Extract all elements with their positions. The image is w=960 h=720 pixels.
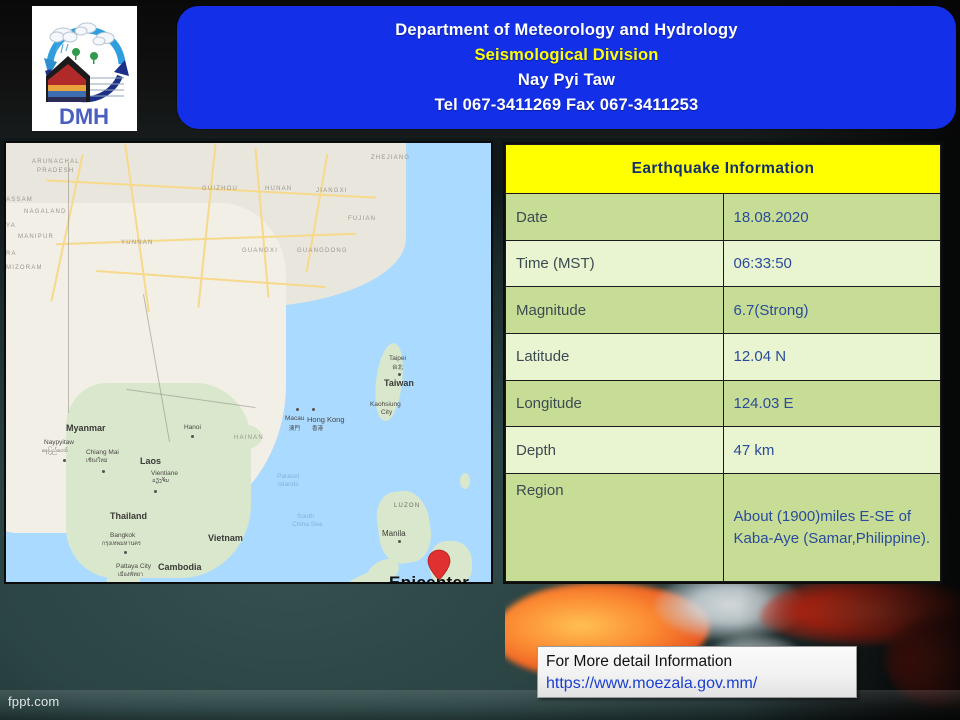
map-city-dot xyxy=(296,408,299,411)
map-city-label: Hanoi xyxy=(184,424,201,431)
table-row: Date 18.08.2020 xyxy=(506,194,941,241)
row-label-depth: Depth xyxy=(506,427,724,474)
map-city-label: Naypyitaw xyxy=(44,439,74,446)
map-region-label: ZHEJIANG xyxy=(371,155,410,161)
map-region-label: PRADESH xyxy=(37,168,74,174)
map-region-label: JIANGXI xyxy=(316,188,348,194)
map-city-label: နေပြည်တော် xyxy=(42,447,68,455)
row-value-region: About (1900)miles E-SE of Kaba-Aye (Sama… xyxy=(723,474,941,582)
row-label-latitude: Latitude xyxy=(506,334,724,381)
map-city-label: 台北 xyxy=(392,363,403,371)
dmh-logo: DMH xyxy=(32,6,137,131)
map-region-label: ARUNACHAL xyxy=(32,159,80,165)
region-line-2: Kaba-Aye (Samar,Philippine). xyxy=(734,528,931,550)
border-line-1 xyxy=(68,163,69,413)
map-city-label: Vientiane xyxy=(151,470,178,477)
map-sea-label: Islands xyxy=(278,481,299,488)
map-city-label: 香港 xyxy=(312,424,323,432)
map-city-label: ວຽງຈັນ xyxy=(152,478,169,484)
map-city-label: 澳門 xyxy=(289,424,300,432)
map-city-label: Macau xyxy=(285,415,305,422)
more-info-url[interactable]: https://www.moezala.gov.mm/ xyxy=(546,673,848,695)
map-city-label: Bangkok xyxy=(110,532,135,539)
map-city-dot xyxy=(398,373,401,376)
map-city-label: เมืองพัทยา xyxy=(118,571,143,579)
map-canvas[interactable]: ARUNACHAL PRADESH ASSAM NAGALAND YA MANI… xyxy=(6,143,491,582)
map-city-label: City xyxy=(381,409,392,416)
map-country-label: Thailand xyxy=(110,511,147,521)
map-region-label: FUJIAN xyxy=(348,216,376,222)
header-banner: Department of Meteorology and Hydrology … xyxy=(177,6,956,129)
map-sea-label: China Sea xyxy=(292,521,322,528)
map-city-label: กรุงเทพมหานคร xyxy=(102,540,141,548)
epicenter-map-panel[interactable]: ARUNACHAL PRADESH ASSAM NAGALAND YA MANI… xyxy=(4,141,493,584)
row-value-longitude: 124.03 E xyxy=(723,380,941,427)
banner-line-contact: Tel 067-3411269 Fax 067-3411253 xyxy=(435,93,699,118)
slide-canvas: DMH Department of Meteorology and Hydrol… xyxy=(0,0,960,720)
map-city-dot xyxy=(191,435,194,438)
landmass-luzon xyxy=(373,488,435,567)
row-label-time: Time (MST) xyxy=(506,240,724,287)
row-value-depth: 47 km xyxy=(723,427,941,474)
map-city-label: Hong Kong xyxy=(307,415,345,424)
landmass-panay xyxy=(396,583,430,584)
row-label-date: Date xyxy=(506,194,724,241)
map-city-dot xyxy=(124,551,127,554)
map-region-label: HAINAN xyxy=(234,435,264,441)
logo-text: DMH xyxy=(59,104,109,129)
map-region-label: GUANGDONG xyxy=(297,248,348,254)
map-sea-label: Paracel xyxy=(277,473,299,480)
row-label-region: Region xyxy=(506,474,724,582)
table-row: Magnitude 6.7(Strong) xyxy=(506,287,941,334)
map-city-dot xyxy=(63,459,66,462)
map-city-dot xyxy=(312,408,315,411)
table-row: Time (MST) 06:33:50 xyxy=(506,240,941,287)
map-region-label: MIZORAM xyxy=(6,265,43,271)
banner-line-department: Department of Meteorology and Hydrology xyxy=(395,18,737,43)
table-row: Depth 47 km xyxy=(506,427,941,474)
map-city-label: Taipei xyxy=(389,355,406,362)
watermark-label: fppt.com xyxy=(8,694,59,709)
map-city-dot xyxy=(398,540,401,543)
map-city-label: Chiang Mai xyxy=(86,449,119,456)
more-info-box: For More detail Information https://www.… xyxy=(537,646,857,698)
banner-line-city: Nay Pyi Taw xyxy=(518,68,615,93)
row-value-latitude: 12.04 N xyxy=(723,334,941,381)
region-line-1: About (1900)miles E-SE of xyxy=(734,506,931,528)
map-region-label: GUANGXI xyxy=(242,248,278,254)
map-country-label: Myanmar xyxy=(66,423,106,433)
earthquake-info-table: Earthquake Information Date 18.08.2020 T… xyxy=(503,142,943,584)
row-value-time: 06:33:50 xyxy=(723,240,941,287)
more-info-text: For More detail Information xyxy=(546,651,848,673)
table-title: Earthquake Information xyxy=(506,145,941,194)
map-region-label: GUIZHOU xyxy=(202,186,238,192)
landmass-island-small-1 xyxy=(460,473,470,489)
map-sea-label: South xyxy=(297,513,314,520)
map-city-label: Kaohsiung xyxy=(370,401,401,408)
map-city-label: Manila xyxy=(382,529,406,538)
table-row: Region About (1900)miles E-SE of Kaba-Ay… xyxy=(506,474,941,582)
map-region-label: MANIPUR xyxy=(18,234,54,240)
row-label-longitude: Longitude xyxy=(506,380,724,427)
map-region-label: HUNAN xyxy=(265,186,292,192)
map-country-label: Laos xyxy=(140,456,161,466)
map-country-label: Taiwan xyxy=(384,378,414,388)
map-country-label: Cambodia xyxy=(158,562,202,572)
map-city-label: Pattaya City xyxy=(116,563,151,570)
map-city-label: เชียงใหม่ xyxy=(86,457,107,465)
table-row: Longitude 124.03 E xyxy=(506,380,941,427)
map-region-label: NAGALAND xyxy=(24,209,67,215)
map-region-label: YA xyxy=(6,223,16,229)
map-city-dot xyxy=(102,470,105,473)
row-label-magnitude: Magnitude xyxy=(506,287,724,334)
row-value-date: 18.08.2020 xyxy=(723,194,941,241)
table-row: Latitude 12.04 N xyxy=(506,334,941,381)
map-country-label: Vietnam xyxy=(208,533,243,543)
row-value-magnitude: 6.7(Strong) xyxy=(723,287,941,334)
map-region-label: ASSAM xyxy=(6,197,33,203)
banner-line-division: Seismological Division xyxy=(474,43,658,68)
map-region-label: LUZON xyxy=(394,503,420,509)
table-row-header: Earthquake Information xyxy=(506,145,941,194)
map-city-dot xyxy=(154,490,157,493)
epicenter-label: Epicenter xyxy=(389,573,469,584)
water-cycle-icon: DMH xyxy=(32,6,137,131)
map-region-label: RA xyxy=(6,251,17,257)
map-region-label: YUNNAN xyxy=(121,240,154,246)
